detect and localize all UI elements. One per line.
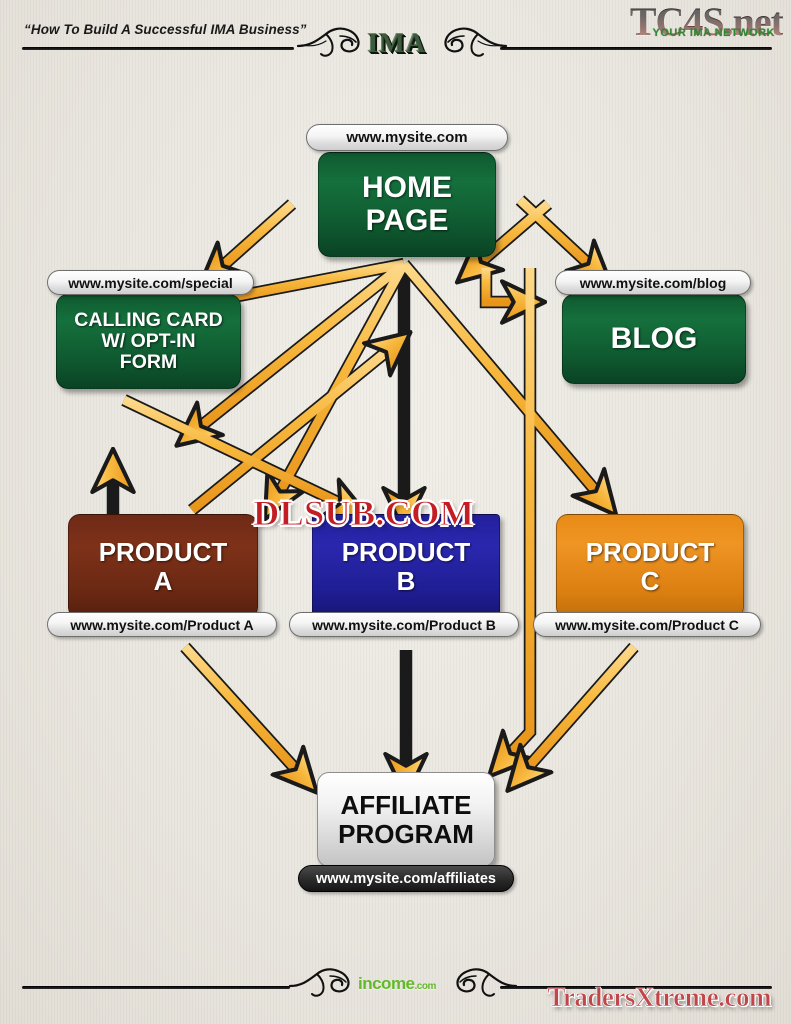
- flourish-ornament-icon: [288, 965, 354, 997]
- product-a-box[interactable]: PRODUCT A: [68, 514, 258, 619]
- home-page-label: HOME PAGE: [362, 172, 452, 237]
- page-header: “How To Build A Successful IMA Business”…: [0, 0, 791, 72]
- footer-rule-left: [22, 986, 290, 989]
- product-c-label: PRODUCT C: [586, 538, 715, 594]
- home-page-url: www.mysite.com: [346, 129, 467, 146]
- arrow-product-a-to-affiliate: [185, 647, 300, 774]
- arrow-home-to-calling-card: [218, 204, 292, 270]
- site-brand-tagline: YOUR IMA NETWORK: [653, 27, 775, 39]
- arrow-home-to-affiliate-long: [506, 268, 530, 758]
- product-c-url: www.mysite.com/Product C: [555, 617, 739, 633]
- product-c-url-pill[interactable]: www.mysite.com/Product C: [533, 612, 761, 637]
- arrow-home-to-blog: [520, 200, 593, 268]
- header-tagline: “How To Build A Successful IMA Business”: [24, 22, 307, 37]
- tradersxtreme-logo: TradersXtreme.com: [547, 982, 771, 1013]
- income-logo-name: income: [358, 974, 415, 993]
- affiliate-program-label: AFFILIATE PROGRAM: [338, 791, 474, 847]
- ima-wordmark: IMA: [352, 28, 442, 59]
- header-rule-right: [500, 47, 772, 50]
- income-logo: income.com: [358, 974, 436, 994]
- product-a-label: PRODUCT A: [99, 538, 228, 594]
- affiliate-program-box[interactable]: AFFILIATE PROGRAM: [317, 772, 495, 867]
- product-b-url: www.mysite.com/Product B: [312, 617, 496, 633]
- product-b-box[interactable]: PRODUCT B: [312, 514, 500, 619]
- site-structure-diagram: HOME PAGE www.mysite.com CALLING CARD W/…: [0, 72, 791, 938]
- product-c-box[interactable]: PRODUCT C: [556, 514, 744, 619]
- calling-card-url: www.mysite.com/special: [68, 275, 232, 291]
- product-b-url-pill[interactable]: www.mysite.com/Product B: [289, 612, 519, 637]
- blog-url-pill[interactable]: www.mysite.com/blog: [555, 270, 751, 295]
- page-footer: income.com TradersXtreme.com: [0, 938, 791, 1024]
- calling-card-box[interactable]: CALLING CARD W/ OPT-IN FORM: [56, 294, 241, 389]
- blog-box[interactable]: BLOG: [562, 294, 746, 384]
- calling-card-url-pill[interactable]: www.mysite.com/special: [47, 270, 254, 295]
- product-b-label: PRODUCT B: [342, 538, 471, 594]
- income-logo-tld: .com: [415, 981, 436, 992]
- blog-label: BLOG: [611, 323, 698, 355]
- affiliate-url: www.mysite.com/affiliates: [316, 871, 496, 887]
- blog-url: www.mysite.com/blog: [580, 275, 727, 291]
- home-page-box[interactable]: HOME PAGE: [318, 152, 496, 257]
- header-rule-left: [22, 47, 294, 50]
- product-a-url: www.mysite.com/Product A: [70, 617, 253, 633]
- product-a-url-pill[interactable]: www.mysite.com/Product A: [47, 612, 277, 637]
- arrow-home-to-product-a: [277, 264, 404, 497]
- flourish-ornament-icon: [440, 24, 508, 58]
- home-page-url-pill[interactable]: www.mysite.com: [306, 124, 508, 151]
- affiliate-url-pill[interactable]: www.mysite.com/affiliates: [298, 865, 514, 892]
- arrow-product-c-to-affiliate: [524, 647, 634, 772]
- calling-card-label: CALLING CARD W/ OPT-IN FORM: [74, 310, 222, 373]
- flourish-ornament-icon: [452, 965, 518, 997]
